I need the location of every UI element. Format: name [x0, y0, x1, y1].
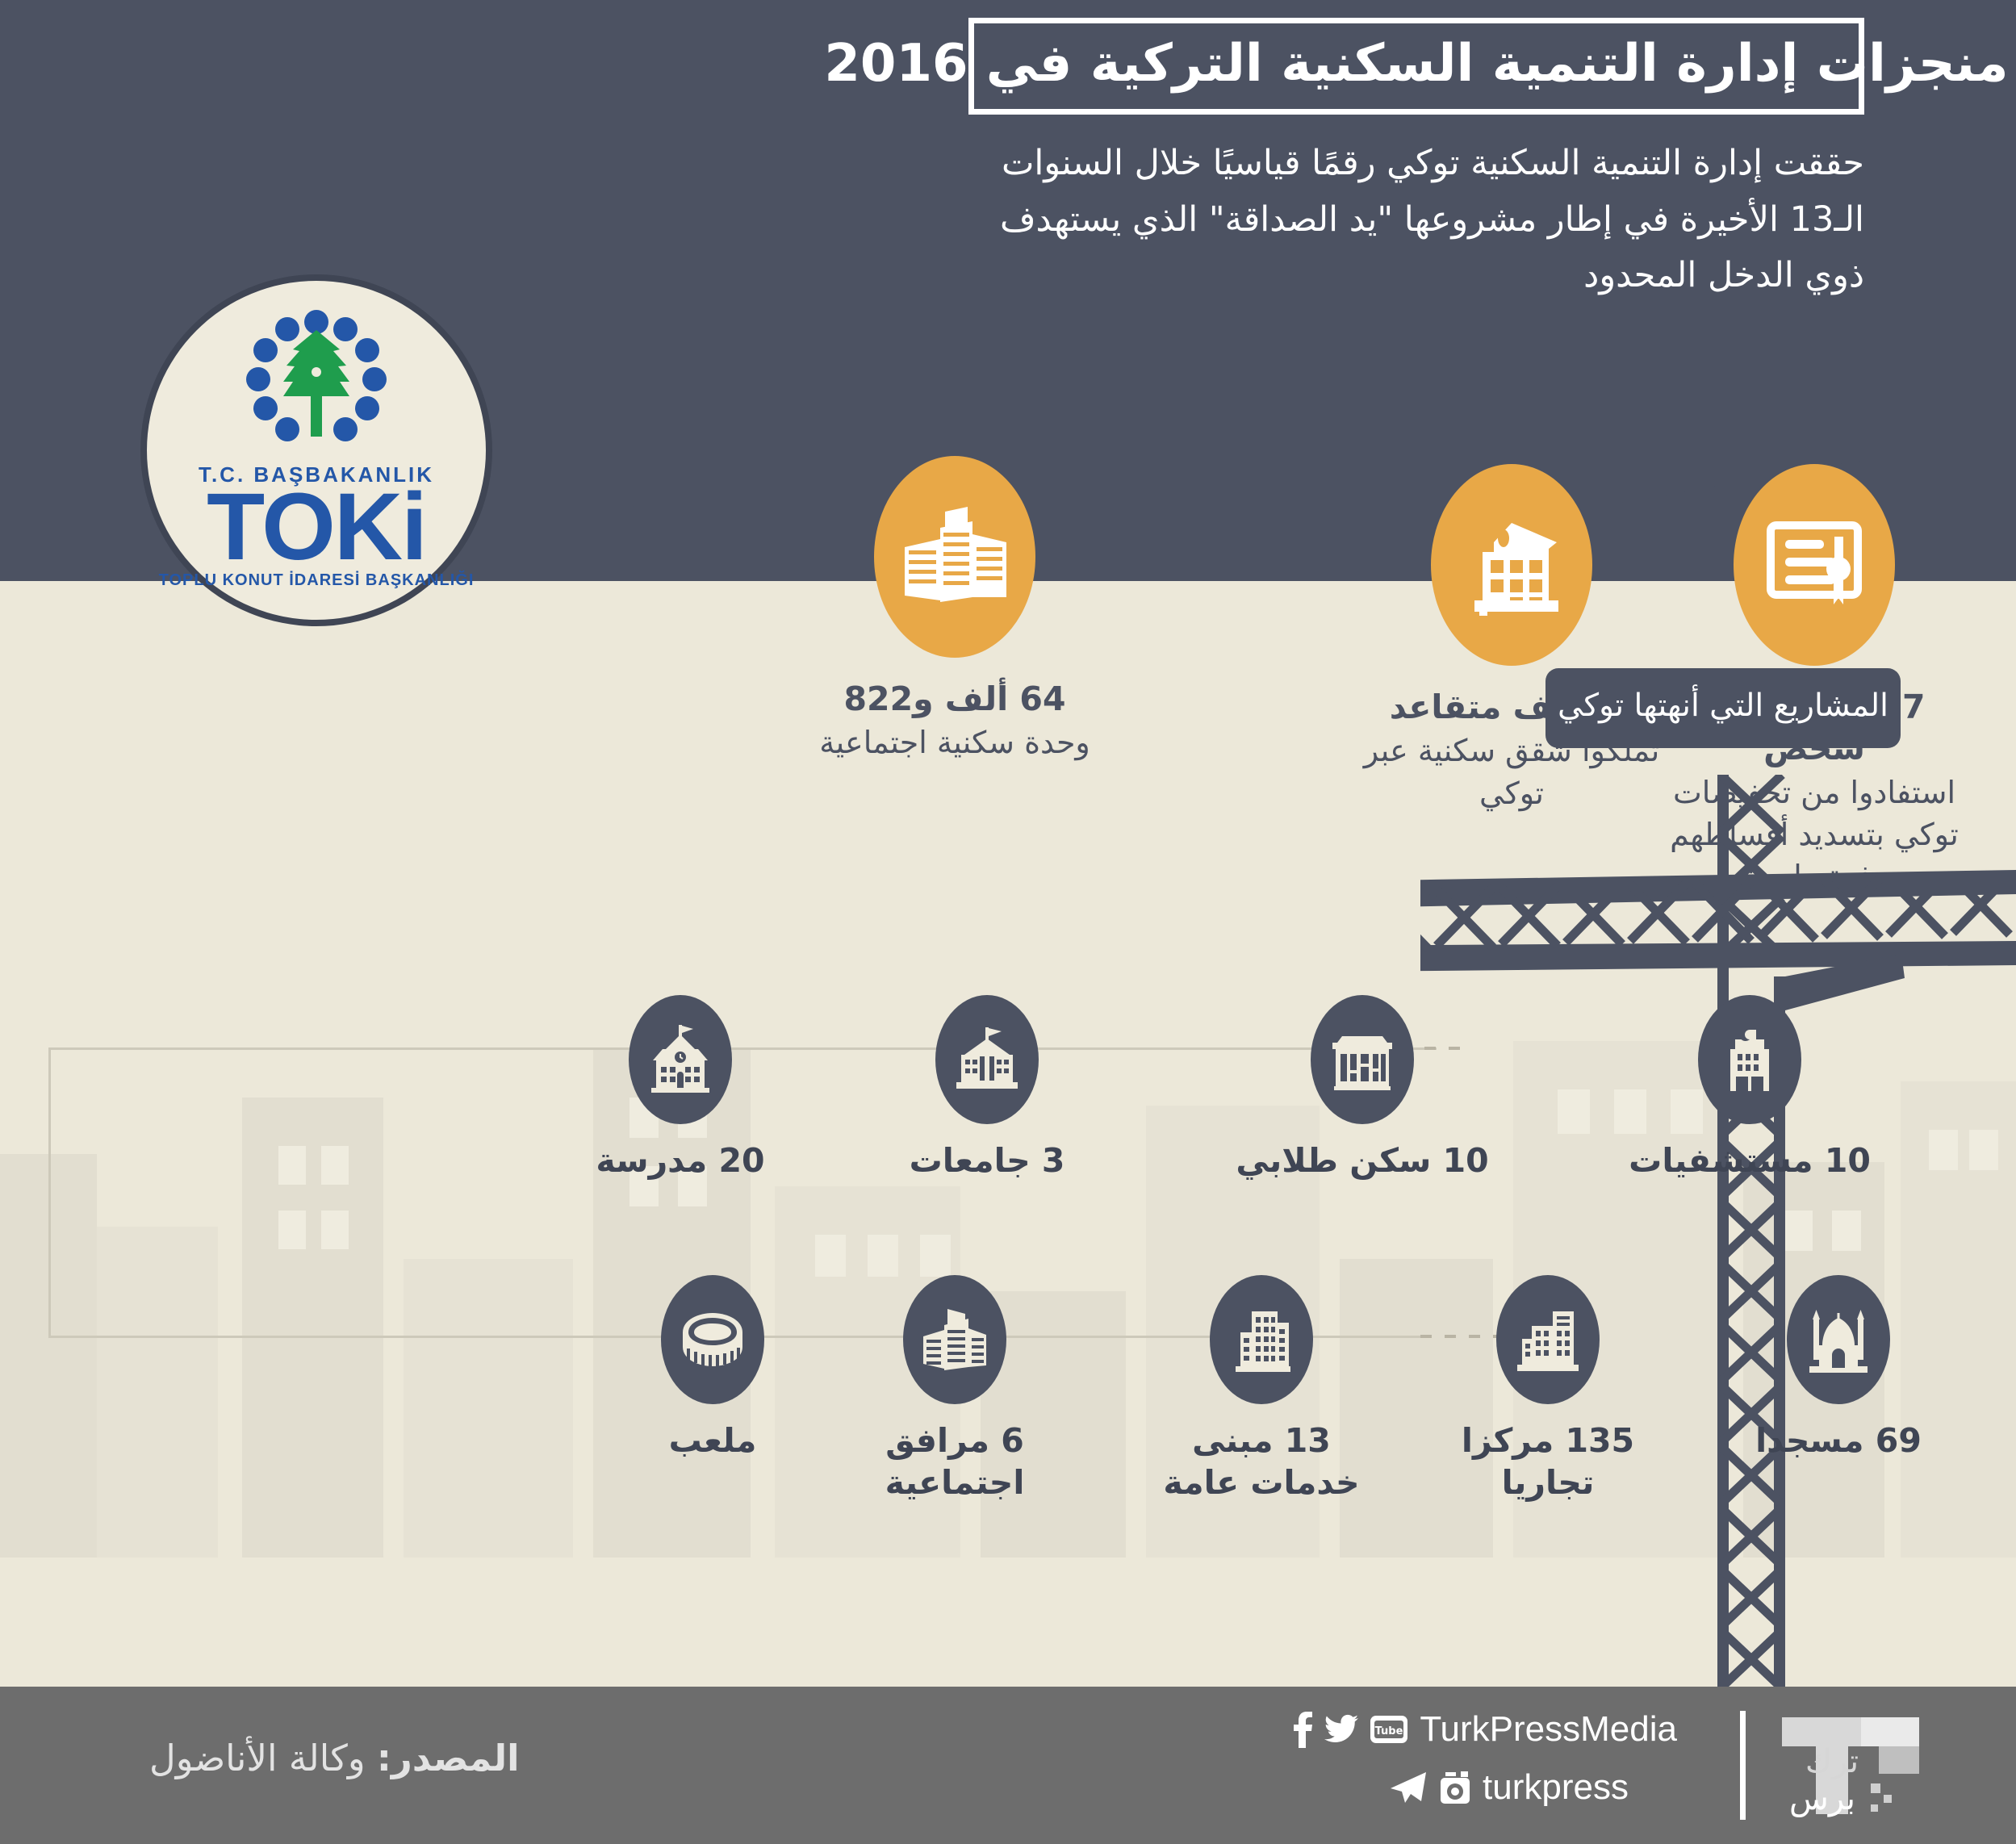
svg-text:برس: برس [1789, 1780, 1855, 1817]
facebook-icon[interactable] [1292, 1711, 1313, 1748]
mall-circle [1496, 1275, 1600, 1404]
social-handle-2[interactable]: turkpress [1483, 1767, 1629, 1808]
project-row2-0: 69 مسجدا [1709, 1275, 1968, 1462]
dormitory-circle [1311, 995, 1414, 1124]
project-row1-0: 10 مستشفيات [1621, 995, 1879, 1182]
toki-wordmark: TOKi [207, 487, 426, 567]
project-row1-2-label: 3 جامعات [858, 1140, 1116, 1182]
social-handle-1[interactable]: TurkPressMedia [1420, 1709, 1677, 1750]
row-connector-bend [48, 1047, 51, 1336]
svg-text:ترك: ترك [1805, 1743, 1859, 1780]
source-value: وكالة الأناضول [149, 1737, 366, 1779]
hospital-circle [1698, 995, 1801, 1124]
house-icon [1458, 515, 1565, 616]
university-circle [935, 995, 1039, 1124]
subtitle-text: حققت إدارة التنمية السكنية توكي رقمًا قي… [968, 136, 1864, 304]
dormitory-icon [1328, 1028, 1397, 1091]
footer-bar: ترك برس Tube TurkPressMedia [0, 1687, 2016, 1844]
project-row2-2-label: 13 مبنى خدمات عامة [1132, 1420, 1391, 1503]
mall-icon [1514, 1305, 1582, 1374]
university-icon [952, 1026, 1023, 1093]
turkpress-logo: ترك برس [1758, 1709, 1968, 1822]
project-row2-1-label: 135 مركزا تجاريا [1419, 1420, 1677, 1503]
mosque-icon [1805, 1305, 1872, 1374]
tower-bubble [874, 456, 1035, 658]
tower-block-icon [895, 500, 1014, 613]
project-row1-0-label: 10 مستشفيات [1621, 1140, 1879, 1182]
top-stat-1: 15 ألف متقاعد تملكوا شقق سكنية عبر توكي [1362, 464, 1661, 814]
svg-text:Tube: Tube [1375, 1725, 1403, 1737]
project-row1-2: 3 جامعات [858, 995, 1116, 1182]
signboard: المشاريع التي أنهتها توكي [1545, 668, 1901, 748]
source-line: المصدر: وكالة الأناضول [149, 1737, 520, 1779]
certificate-icon [1766, 519, 1863, 612]
source-label: المصدر: [377, 1737, 520, 1779]
school-icon [645, 1025, 716, 1094]
stadium-circle [661, 1275, 764, 1404]
public-service-circle [1210, 1275, 1313, 1404]
signboard-label: المشاريع التي أنهتها توكي [1558, 688, 1888, 724]
stadium-icon [678, 1311, 747, 1368]
social-row-2[interactable]: turkpress [1389, 1767, 1629, 1808]
crane-illustration [1420, 775, 2016, 1695]
project-row2-3: 6 مرافق اجتماعية [826, 1275, 1084, 1503]
project-row1-1-label: 10 سكن طلابي [1233, 1140, 1491, 1182]
toki-agency-line: TOPLU KONUT İDARESİ BAŞKANLIĞI [159, 571, 475, 590]
school-circle [629, 995, 732, 1124]
project-row2-4: ملعب [583, 1275, 842, 1462]
social-row-1[interactable]: Tube TurkPressMedia [1292, 1709, 1677, 1750]
toki-emblem-icon [215, 307, 417, 453]
page-title: منجزات إدارة التنمية السكنية التركية في … [824, 38, 2008, 94]
mosque-circle [1787, 1275, 1890, 1404]
instagram-icon[interactable] [1439, 1770, 1471, 1805]
youtube-icon[interactable]: Tube [1370, 1715, 1408, 1744]
project-row1-1: 10 سكن طلابي [1233, 995, 1491, 1182]
footer-divider [1740, 1711, 1746, 1820]
project-row2-0-label: 69 مسجدا [1709, 1420, 1968, 1462]
project-row1-3-label: 20 مدرسة [551, 1140, 809, 1182]
social-facility-circle [903, 1275, 1006, 1404]
top-stat-2: 64 ألف و822 وحدة سكنية اجتماعية [805, 456, 1104, 764]
public-service-icon [1228, 1305, 1295, 1374]
certificate-bubble [1734, 464, 1895, 666]
house-bubble [1431, 464, 1592, 666]
telegram-icon[interactable] [1389, 1771, 1428, 1804]
title-frame: منجزات إدارة التنمية السكنية التركية في … [968, 18, 1864, 115]
project-row1-3: 20 مدرسة [551, 995, 809, 1182]
hospital-icon [1719, 1025, 1780, 1094]
infographic-root: منجزات إدارة التنمية السكنية التركية في … [0, 0, 2016, 1844]
project-row2-2: 13 مبنى خدمات عامة [1132, 1275, 1391, 1503]
toki-logo: T.C. BAŞBAKANLIK TOKi TOPLU KONUT İDARES… [147, 281, 486, 620]
project-row2-4-label: ملعب [583, 1420, 842, 1462]
social-facility-icon [920, 1306, 989, 1374]
top-stat-2-headline: 64 ألف و822 [805, 679, 1104, 720]
twitter-icon[interactable] [1324, 1713, 1358, 1746]
project-row2-3-label: 6 مرافق اجتماعية [826, 1420, 1084, 1503]
top-stat-2-body: وحدة سكنية اجتماعية [805, 721, 1104, 763]
project-row2-1: 135 مركزا تجاريا [1419, 1275, 1677, 1503]
